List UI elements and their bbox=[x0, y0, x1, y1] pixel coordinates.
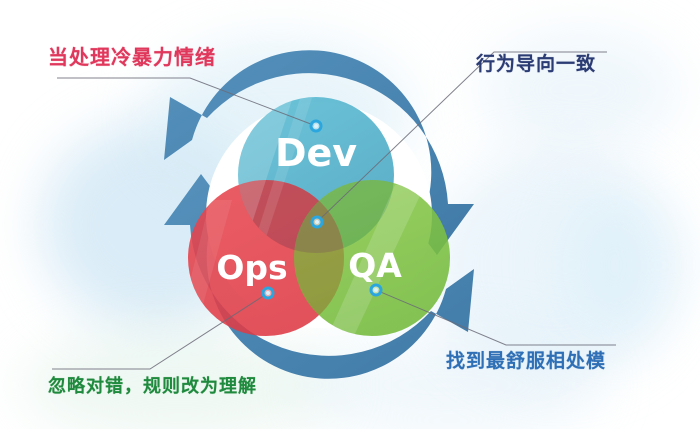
diagram-canvas: Dev Ops QA 当处理冷暴力情绪 行为导向一致 忽略对错，规则改为理解 找… bbox=[0, 0, 700, 429]
annotation-top-right: 行为导向一致 bbox=[476, 55, 596, 74]
annotation-bottom-left: 忽略对错，规则改为理解 bbox=[48, 378, 257, 396]
marker-ops[interactable] bbox=[263, 288, 274, 299]
marker-qa[interactable] bbox=[371, 285, 382, 296]
venn-label-dev: Dev bbox=[275, 131, 357, 175]
venn-label-ops: Ops bbox=[216, 248, 287, 287]
venn-label-qa: QA bbox=[348, 246, 402, 285]
annotation-bottom-right: 找到最舒服相处模 bbox=[446, 352, 606, 371]
marker-center[interactable] bbox=[312, 217, 323, 228]
marker-dev[interactable] bbox=[311, 121, 322, 132]
annotation-top-left: 当处理冷暴力情绪 bbox=[48, 47, 216, 67]
